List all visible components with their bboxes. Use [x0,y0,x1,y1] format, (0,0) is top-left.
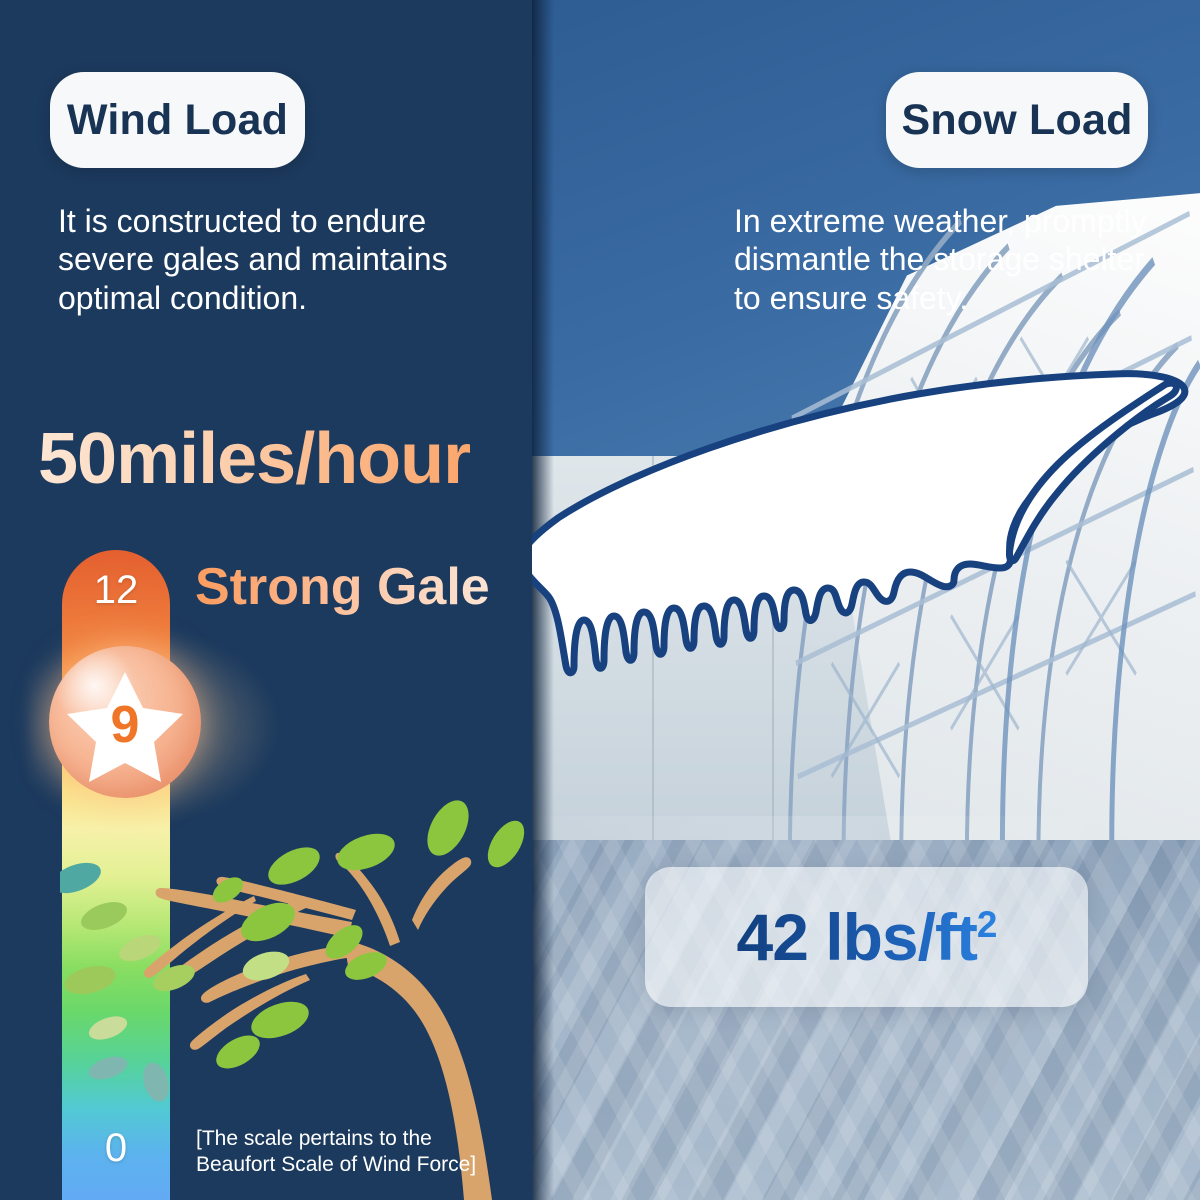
snow-load-value-number: 42 lbs/ft [737,900,977,974]
scale-footnote: [The scale pertains to the Beaufort Scal… [196,1126,486,1179]
badge-value: 9 [49,646,201,798]
gale-label: Strong Gale [195,557,490,617]
snow-drift-illustration [532,368,1200,678]
scale-max-label: 12 [62,568,170,613]
wind-speed-value: 50miles/hour [38,418,470,500]
snow-load-value-card: 42 lbs/ft2 [645,867,1088,1007]
snow-load-value-exponent: 2 [977,904,997,945]
infographic-canvas: 12 0 [0,0,1200,1200]
wind-load-pill[interactable]: Wind Load [50,72,305,168]
wind-load-description: It is constructed to endure severe gales… [58,202,488,317]
snow-load-description: In extreme weather, promptly dismantle t… [734,202,1164,317]
wind-load-panel: 12 0 [0,0,532,1200]
snow-load-value: 42 lbs/ft2 [737,899,997,975]
snow-load-panel [532,0,1200,1200]
snow-load-pill[interactable]: Snow Load [886,72,1148,168]
